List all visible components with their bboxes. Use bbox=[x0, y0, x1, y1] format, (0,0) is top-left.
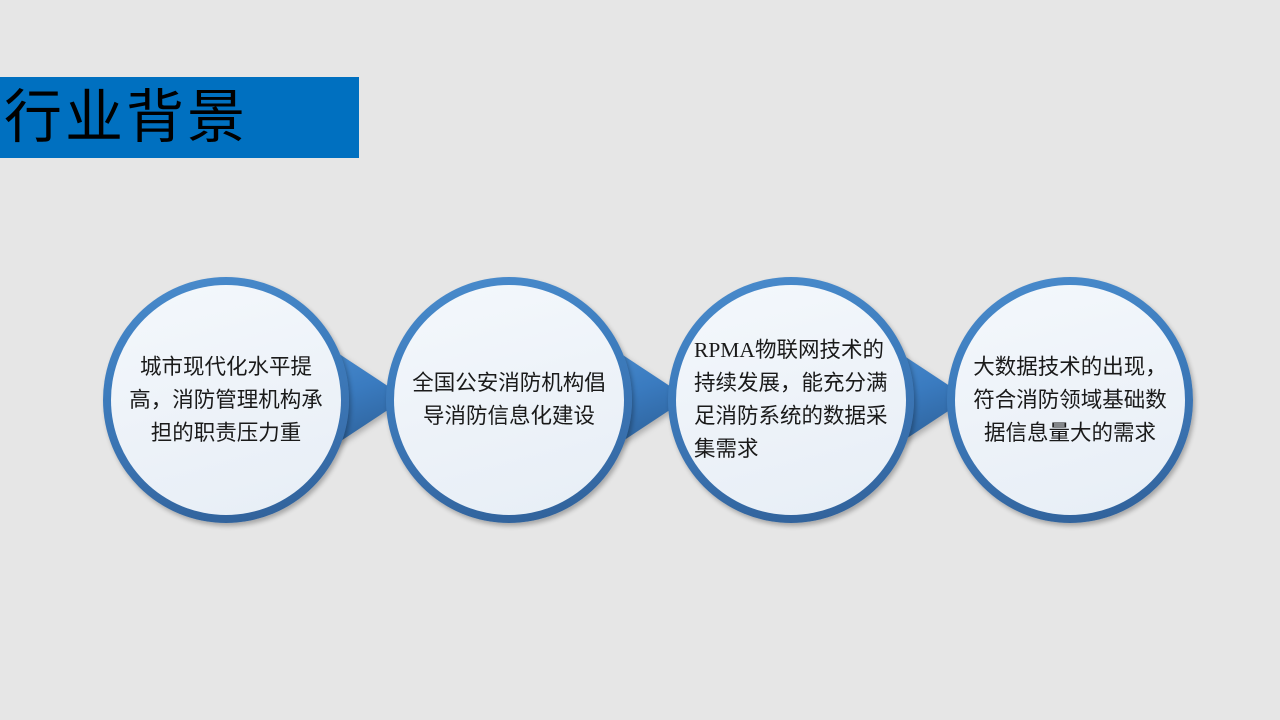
flow-node-text: 城市现代化水平提高，消防管理机构承担的职责压力重 bbox=[123, 351, 329, 450]
flow-node-label: 全国公安消防机构倡导消防信息化建设 bbox=[406, 285, 612, 515]
flow-node-label: 大数据技术的出现，符合消防领域基础数据信息量大的需求 bbox=[967, 285, 1173, 515]
page-title: 行业背景 bbox=[4, 72, 424, 164]
flow-node-text: RPMA物联网技术的持续发展，能充分满足消防系统的数据采集需求 bbox=[694, 334, 902, 466]
flow-node-text: 全国公安消防机构倡导消防信息化建设 bbox=[406, 367, 612, 433]
flow-node-2[interactable]: 全国公安消防机构倡导消防信息化建设 bbox=[386, 277, 632, 523]
slide-canvas: 行业背景 bbox=[0, 0, 1280, 720]
flow-node-label: RPMA物联网技术的持续发展，能充分满足消防系统的数据采集需求 bbox=[694, 285, 902, 515]
flow-node-text: 大数据技术的出现，符合消防领域基础数据信息量大的需求 bbox=[967, 351, 1173, 450]
flow-node-4[interactable]: 大数据技术的出现，符合消防领域基础数据信息量大的需求 bbox=[947, 277, 1193, 523]
flow-node-1[interactable]: 城市现代化水平提高，消防管理机构承担的职责压力重 bbox=[103, 277, 349, 523]
flow-node-label: 城市现代化水平提高，消防管理机构承担的职责压力重 bbox=[123, 285, 329, 515]
flow-node-3[interactable]: RPMA物联网技术的持续发展，能充分满足消防系统的数据采集需求 bbox=[668, 277, 914, 523]
